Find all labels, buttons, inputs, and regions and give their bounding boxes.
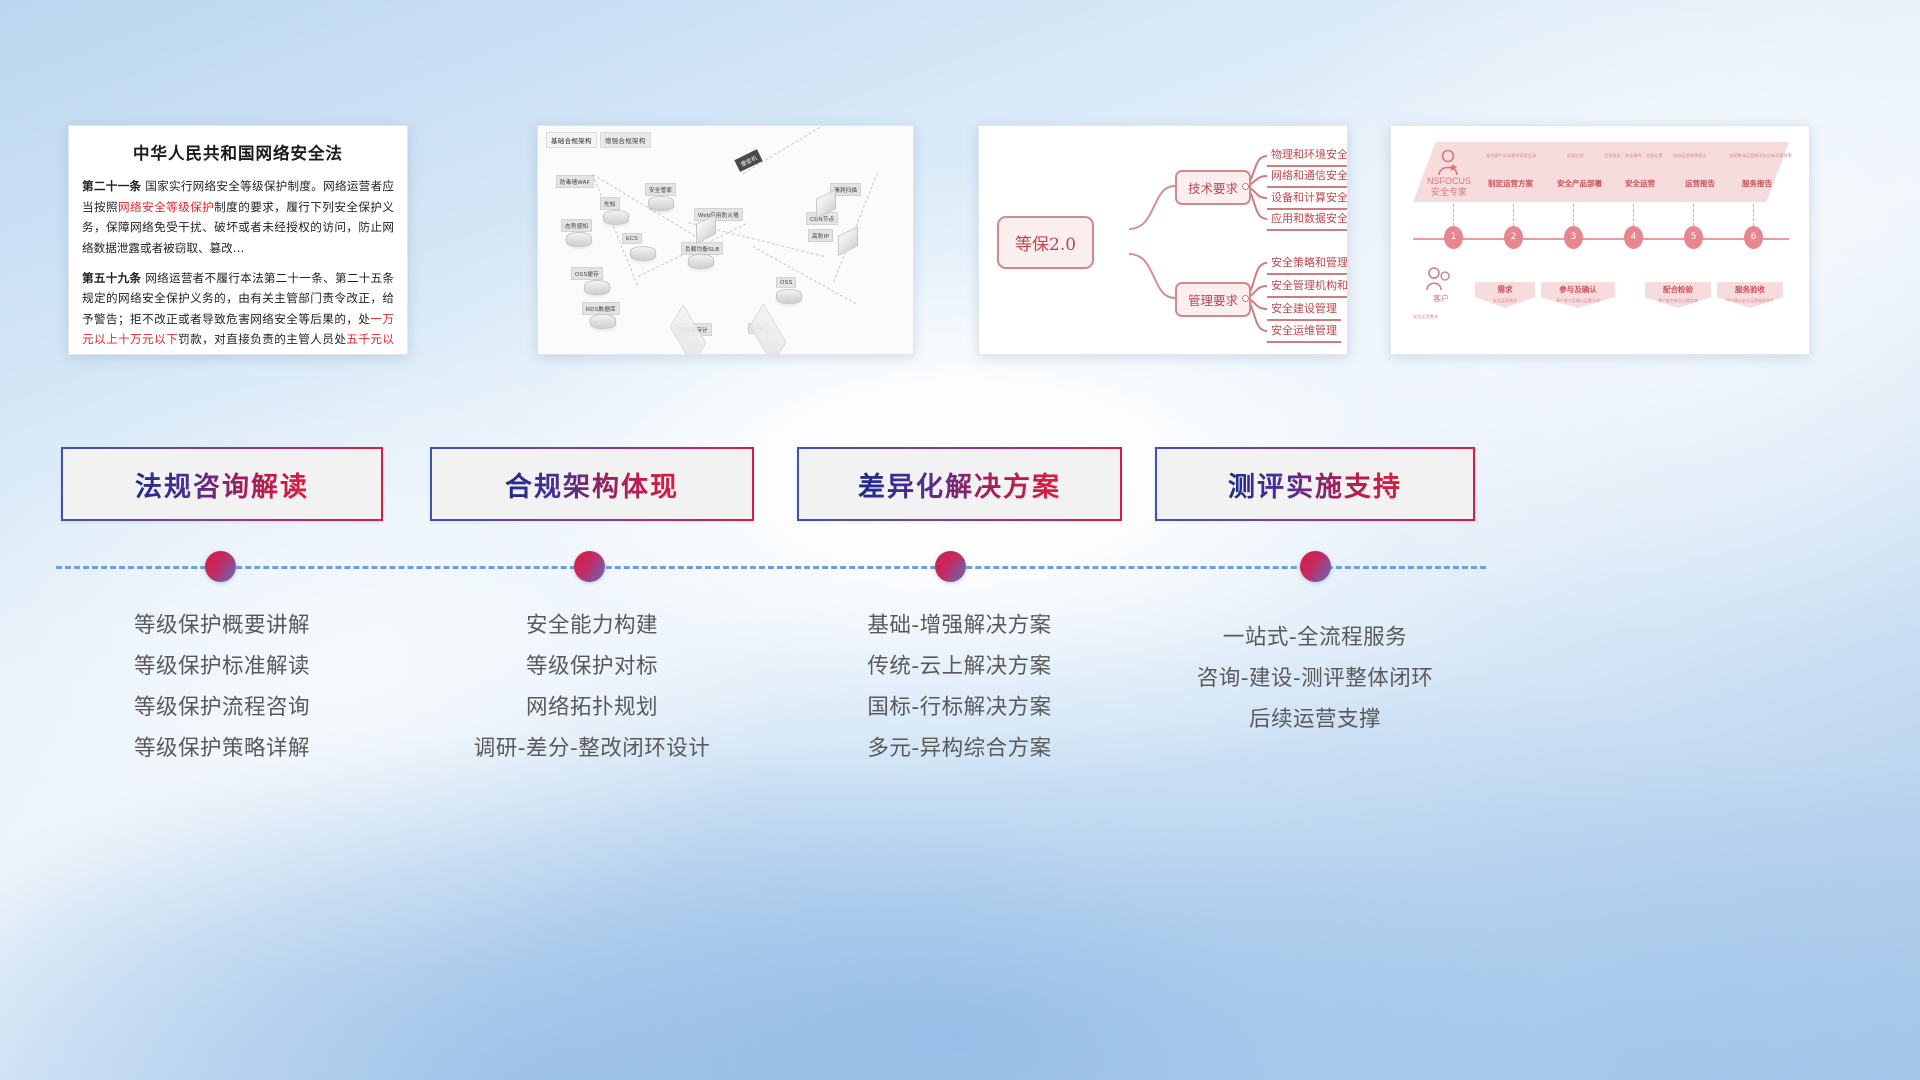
- headline-label: 合规架构体现: [505, 465, 679, 504]
- iso-node-label: Web应用防火墙: [694, 208, 743, 221]
- mindmap-branch-management: 管理要求: [1175, 282, 1251, 317]
- headline-box-evaluation-support[interactable]: 测评实施支持: [1155, 447, 1475, 521]
- customer-action-title: 配合检验: [1663, 285, 1693, 294]
- customer-label: 客户: [1417, 294, 1465, 304]
- iso-server-shape: [648, 196, 674, 211]
- detail-column-regulation-consulting: 等级保护概要讲解 等级保护标准解读 等级保护流程咨询 等级保护策略详解: [61, 605, 383, 769]
- detail-column-evaluation-support: 一站式-全流程服务 咨询-建设-测评整体闭环 后续运营支撑: [1155, 617, 1475, 740]
- law-article-59: 第五十九条 网络运营者不履行本法第二十一条、第二十五条规定的网络安全保护义务的，…: [82, 268, 394, 356]
- iso-server-shape: [566, 232, 592, 247]
- mindmap-collapse-icon[interactable]: [1242, 183, 1249, 190]
- stage-title: 安全运营: [1625, 178, 1655, 189]
- list-item: 传统-云上解决方案: [797, 646, 1122, 687]
- law-article-21: 第二十一条 国家实行网络安全等级保护制度。网络运营者应当按照网络安全等级保护制度…: [82, 176, 394, 259]
- mindmap-collapse-icon[interactable]: [1242, 295, 1249, 302]
- iso-zone-plate: [749, 303, 786, 355]
- iso-node-label: 高防IP: [808, 229, 833, 242]
- process-timeline-axis: [1413, 238, 1789, 240]
- customer-action-sub: 客户参与及确认运营方案: [1541, 298, 1615, 303]
- card-cybersecurity-law[interactable]: 中华人民共和国网络安全法 第二十一条 国家实行网络安全等级保护制度。网络运营者应…: [68, 125, 408, 355]
- process-step: 5: [1684, 226, 1703, 249]
- stage-title: 安全产品部署: [1557, 178, 1602, 189]
- list-item: 等级保护对标: [430, 646, 754, 687]
- stage-title: 运营报告: [1685, 178, 1715, 189]
- customer-person-icon: [1425, 266, 1453, 294]
- headline-box-regulation-consulting[interactable]: 法规咨询解读: [61, 447, 383, 521]
- law-article-21-highlight: 网络安全等级保护: [118, 200, 214, 214]
- list-item: 调研-差分-整改闭环设计: [430, 728, 754, 769]
- law-document: 中华人民共和国网络安全法 第二十一条 国家实行网络安全等级保护制度。网络运营者应…: [69, 126, 407, 355]
- process-step: 3: [1564, 226, 1583, 249]
- image-card-row: 中华人民共和国网络安全法 第二十一条 国家实行网络安全等级保护制度。网络运营者应…: [0, 125, 1920, 360]
- architecture-tabs[interactable]: 基础合规架构 增强合规架构: [546, 132, 651, 148]
- detail-column-compliance-architecture: 安全能力构建 等级保护对标 网络拓扑规划 调研-差分-整改闭环设计: [430, 605, 754, 769]
- iso-server-shape: [688, 254, 714, 269]
- process-dash: [1753, 204, 1754, 226]
- iso-server-shape: [590, 314, 616, 329]
- iso-node-label: 安全管家: [645, 183, 676, 196]
- process-dash: [1453, 204, 1454, 226]
- customer-action: 配合检验 客户配合安全运营实施: [1645, 282, 1711, 308]
- stage-subtitle: 阶段运营效果报告: [1673, 153, 1707, 159]
- iso-node-label: 防毒墙WAF: [556, 175, 594, 188]
- headline-label: 测评实施支持: [1228, 465, 1402, 504]
- list-item: 等级保护策略详解: [61, 728, 383, 769]
- iso-node-label: OSS: [776, 277, 796, 288]
- headline-row: 法规咨询解读 合规架构体现 差异化解决方案 测评实施支持: [0, 447, 1920, 521]
- mindmap-leaf: 物理和环境安全: [1267, 145, 1348, 167]
- iso-node-label: 态势感知: [561, 219, 592, 232]
- expert-person-icon: [1433, 148, 1463, 178]
- list-item: 基础-增强解决方案: [797, 605, 1122, 646]
- tab-basic-architecture[interactable]: 基础合规架构: [546, 132, 597, 148]
- mindmap-leaf: 安全运维管理: [1267, 321, 1341, 343]
- customer-action-title: 参与及确认: [1559, 285, 1597, 294]
- process-dash: [1573, 204, 1574, 226]
- law-article-59-text-b: 罚款，对直接负责的主管人员处: [178, 332, 346, 346]
- iso-device-shape: [838, 226, 858, 256]
- mindmap-diagram: 等保2.0 技术要求 物理和环境安全 网络和通信安全 设: [979, 126, 1347, 354]
- customer-action-sub: 安全运营需求: [1475, 298, 1535, 303]
- headline-box-differentiated-solution[interactable]: 差异化解决方案: [797, 447, 1122, 521]
- process-infographic: NSFOCUS 安全专家 结合客户实际需求现状出具 制定运营方案 实施方案 安全…: [1391, 126, 1809, 354]
- customer-action-title: 需求: [1498, 285, 1513, 294]
- timeline-marker-4[interactable]: [1300, 551, 1331, 582]
- expert-label: NSFOCUS 安全专家: [1421, 176, 1477, 199]
- detail-column-differentiated-solution: 基础-增强解决方案 传统-云上解决方案 国标-行标解决方案 多元-异构综合方案: [797, 605, 1122, 769]
- list-item: 等级保护流程咨询: [61, 687, 383, 728]
- customer-action-sub: 客户配合安全运营实施: [1645, 298, 1711, 303]
- mindmap-leaf: 应用和数据安全: [1267, 209, 1348, 231]
- process-dash: [1693, 204, 1694, 226]
- customer-action-sub: 客户确认安全运营服务效果: [1717, 298, 1783, 303]
- card-dengbao-mindmap[interactable]: 等保2.0 技术要求 物理和环境安全 网络和通信安全 设: [978, 125, 1348, 355]
- headline-box-compliance-architecture[interactable]: 合规架构体现: [430, 447, 754, 521]
- list-item: 等级保护概要讲解: [61, 605, 383, 646]
- iso-server-shape: [776, 289, 802, 304]
- architecture-diagram: 基础合规架构 增强合规架构 堡垒机 安全管家 先知 态势感知 防毒墙WAF 漏洞…: [538, 126, 913, 354]
- headline-label: 法规咨询解读: [135, 465, 309, 504]
- iso-server-shape: [630, 246, 656, 261]
- customer-action: 参与及确认 客户参与及确认运营方案: [1541, 282, 1615, 308]
- stage-title: 服务报告: [1742, 178, 1772, 189]
- iso-server-shape: [584, 280, 610, 295]
- list-item: 多元-异构综合方案: [797, 728, 1122, 769]
- customer-action: 需求 安全运营需求: [1475, 282, 1535, 308]
- iso-connector: [743, 125, 859, 174]
- mindmap-leaf: 安全策略和管理制度: [1267, 253, 1348, 275]
- iso-connector: [753, 246, 857, 304]
- list-item: 一站式-全流程服务: [1155, 617, 1475, 658]
- mindmap-leaf: 安全管理机构和人员: [1267, 276, 1348, 298]
- customer-action: 服务验收 客户确认安全运营服务效果: [1717, 282, 1783, 308]
- customer-title: 客户: [1433, 294, 1449, 303]
- process-step: 6: [1744, 226, 1763, 249]
- process-step: 1: [1444, 226, 1463, 249]
- list-item: 网络拓扑规划: [430, 687, 754, 728]
- timeline-dashed-line: [56, 566, 1486, 569]
- iso-node-label: OSS便存: [571, 267, 603, 280]
- customer-subtitle: 安全运营需求: [1413, 314, 1438, 320]
- stage-subtitle: 日常巡检、安全事件、应急处置: [1604, 153, 1663, 159]
- stage-subtitle: 总结整体运营情况及总体运营效果: [1729, 153, 1792, 159]
- law-article-59-label: 第五十九条: [82, 271, 141, 285]
- list-item: 国标-行标解决方案: [797, 687, 1122, 728]
- stage-subtitle: 实施方案: [1567, 153, 1584, 159]
- mindmap-branch-technical: 技术要求: [1175, 170, 1251, 205]
- stage-title: 制定运营方案: [1488, 178, 1533, 189]
- expert-brand-sub: 安全专家: [1431, 187, 1467, 197]
- list-item: 后续运营支撑: [1155, 699, 1475, 740]
- stage-subtitle: 结合客户实际需求现状出具: [1486, 153, 1536, 159]
- mindmap-leaf: 设备和计算安全: [1267, 188, 1348, 210]
- process-step: 4: [1624, 226, 1643, 249]
- law-article-21-label: 第二十一条: [82, 179, 141, 193]
- process-step: 2: [1504, 226, 1523, 249]
- customer-action-title: 服务验收: [1735, 285, 1765, 294]
- card-nsfocus-process[interactable]: NSFOCUS 安全专家 结合客户实际需求现状出具 制定运营方案 实施方案 安全…: [1390, 125, 1810, 355]
- mindmap-leaf: 安全建设管理: [1267, 299, 1341, 321]
- tab-enhanced-architecture[interactable]: 增强合规架构: [600, 132, 651, 148]
- list-item: 等级保护标准解读: [61, 646, 383, 687]
- card-compliance-architecture[interactable]: 基础合规架构 增强合规架构 堡垒机 安全管家 先知 态势感知 防毒墙WAF 漏洞…: [537, 125, 914, 355]
- expert-brand: NSFOCUS: [1427, 176, 1471, 186]
- mindmap-leaf: 网络和通信安全: [1267, 166, 1348, 188]
- process-dash: [1633, 204, 1634, 226]
- list-item: 安全能力构建: [430, 605, 754, 646]
- list-item: 咨询-建设-测评整体闭环: [1155, 658, 1475, 699]
- iso-node-label: 先知: [600, 197, 620, 210]
- iso-server-shape: [603, 210, 629, 225]
- law-title: 中华人民共和国网络安全法: [82, 140, 394, 164]
- timeline-marker-1[interactable]: [205, 551, 236, 582]
- law-article-59-text-c: 罚款。: [152, 353, 187, 355]
- iso-node-label: ECS: [622, 233, 642, 244]
- timeline-marker-2[interactable]: [574, 551, 605, 582]
- timeline-marker-3[interactable]: [935, 551, 966, 582]
- headline-label: 差异化解决方案: [858, 465, 1061, 504]
- process-dash: [1513, 204, 1514, 226]
